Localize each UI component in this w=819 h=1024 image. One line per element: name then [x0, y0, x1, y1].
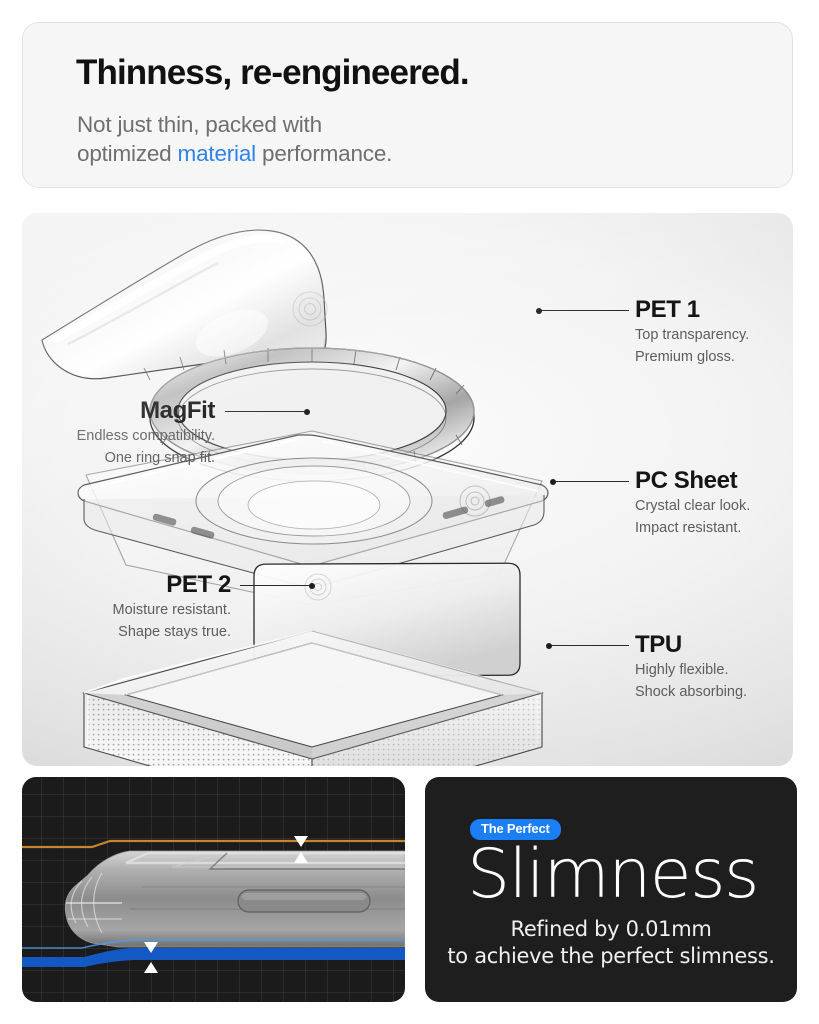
label-pet2: PET 2 Moisture resistant. Shape stays tr… — [22, 571, 231, 641]
slimness-subtext-line-2: to achieve the perfect slimness. — [425, 943, 797, 970]
leader-line-pet2 — [240, 585, 312, 586]
subtitle-text-b: performance. — [256, 141, 392, 166]
label-pet1-title: PET 1 — [635, 296, 749, 323]
subtitle-line-2: optimized material performance. — [77, 139, 392, 168]
page-title: Thinness, re-engineered. — [76, 53, 469, 93]
label-magfit-desc-2: One ring snap fit. — [22, 449, 215, 468]
top-reference-line — [22, 841, 405, 847]
bottom-reference-band — [22, 948, 405, 967]
cross-section-panel — [22, 777, 405, 1002]
label-pet1-desc-1: Top transparency. — [635, 326, 749, 345]
subtitle-text-a: optimized — [77, 141, 178, 166]
case-cross-section-illustration — [22, 777, 405, 1002]
leader-dot-pet1 — [536, 308, 542, 314]
header-card: Thinness, re-engineered. Not just thin, … — [22, 22, 793, 188]
label-pcsheet-desc-2: Impact resistant. — [635, 519, 750, 538]
label-tpu: TPU Highly flexible. Shock absorbing. — [635, 631, 747, 701]
infographic-page: Thinness, re-engineered. Not just thin, … — [0, 0, 819, 1024]
subtitle-line-1: Not just thin, packed with — [77, 110, 392, 139]
label-tpu-desc-1: Highly flexible. — [635, 661, 747, 680]
label-magfit: MagFit Endless compatibility. One ring s… — [22, 397, 215, 467]
label-pcsheet-desc-1: Crystal clear look. — [635, 497, 750, 516]
slimness-headline: Slimness — [467, 834, 758, 916]
slimness-panel: The Perfect Slimness Refined by 0.01mm t… — [425, 777, 797, 1002]
leader-line-pet1 — [539, 310, 629, 311]
label-pcsheet: PC Sheet Crystal clear look. Impact resi… — [635, 467, 750, 537]
leader-dot-pet2 — [309, 583, 315, 589]
page-subtitle: Not just thin, packed with optimized mat… — [77, 110, 392, 168]
label-pet2-desc-2: Shape stays true. — [22, 623, 231, 642]
leader-dot-pcsheet — [550, 479, 556, 485]
exploded-view-card: PET 1 Top transparency. Premium gloss. M… — [22, 213, 793, 766]
leader-line-pcsheet — [553, 481, 629, 482]
subtitle-accent-material: material — [178, 141, 256, 166]
leader-dot-magfit — [304, 409, 310, 415]
label-tpu-title: TPU — [635, 631, 747, 658]
slimness-subtext-line-1: Refined by 0.01mm — [425, 916, 797, 943]
label-magfit-desc-1: Endless compatibility. — [22, 427, 215, 446]
label-tpu-desc-2: Shock absorbing. — [635, 683, 747, 702]
label-pcsheet-title: PC Sheet — [635, 467, 750, 494]
label-pet2-desc-1: Moisture resistant. — [22, 601, 231, 620]
layer-stack-stage: PET 1 Top transparency. Premium gloss. M… — [22, 213, 793, 766]
label-magfit-title: MagFit — [22, 397, 215, 424]
label-pet1-desc-2: Premium gloss. — [635, 348, 749, 367]
label-pet2-title: PET 2 — [22, 571, 231, 598]
leader-line-magfit — [225, 411, 307, 412]
leader-dot-tpu — [546, 643, 552, 649]
leader-line-tpu — [549, 645, 629, 646]
label-pet1: PET 1 Top transparency. Premium gloss. — [635, 296, 749, 366]
slimness-subtext: Refined by 0.01mm to achieve the perfect… — [425, 916, 797, 970]
